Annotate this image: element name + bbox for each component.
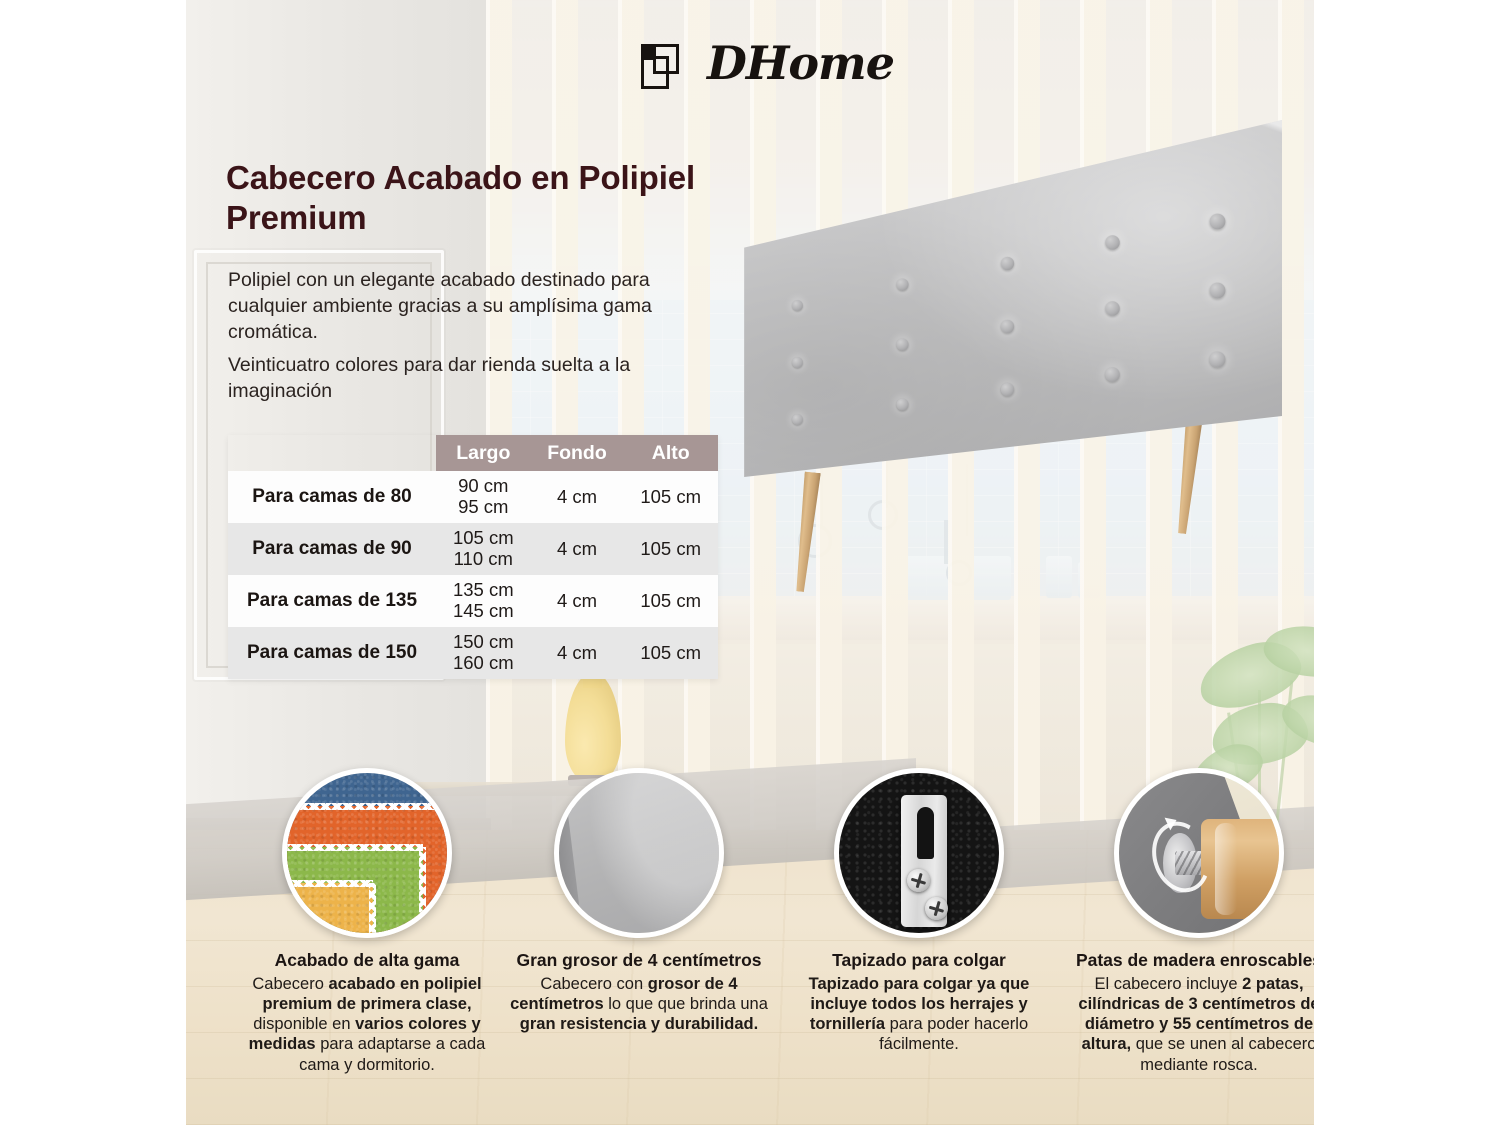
column-header-alto: Alto bbox=[623, 435, 718, 471]
table-body: Para camas de 8090 cm 95 cm4 cm105 cmPar… bbox=[228, 471, 718, 679]
feature-body: Tapizado para colgar ya que incluye todo… bbox=[778, 974, 1060, 1055]
feature-list: Acabado de alta gama Cabecero acabado en… bbox=[186, 768, 1314, 1125]
cell-alto: 105 cm bbox=[623, 575, 718, 627]
tufting-button bbox=[897, 398, 909, 410]
table-row: Para camas de 150150 cm 160 cm4 cm105 cm bbox=[228, 627, 718, 679]
brand-name: DHome bbox=[707, 36, 894, 90]
description-paragraph-1: Polipiel con un elegante acabado destina… bbox=[228, 268, 690, 346]
pinked-edge bbox=[369, 883, 376, 938]
table-row: Para camas de 90105 cm 110 cm4 cm105 cm bbox=[228, 523, 718, 575]
feature-item-thickness: Gran grosor de 4 centímetros Cabecero co… bbox=[498, 768, 780, 1034]
feature-body: Cabecero acabado en polipiel premium de … bbox=[226, 974, 508, 1075]
cell-fondo: 4 cm bbox=[531, 471, 624, 523]
keyhole-slot bbox=[917, 807, 934, 859]
wooden-leg bbox=[1201, 819, 1284, 919]
cell-largo: 90 cm 95 cm bbox=[436, 471, 531, 523]
column-header-largo: Largo bbox=[436, 435, 531, 471]
table-header: Largo Fondo Alto bbox=[228, 435, 718, 471]
cell-fondo: 4 cm bbox=[531, 627, 624, 679]
upholstery-thickness-icon bbox=[554, 768, 724, 938]
cell-largo: 150 cm 160 cm bbox=[436, 627, 531, 679]
pinked-edge bbox=[282, 844, 423, 851]
feature-item-legs: Patas de madera enroscables El cabecero … bbox=[1058, 768, 1314, 1075]
cell-bed-size: Para camas de 90 bbox=[228, 523, 436, 575]
cell-alto: 105 cm bbox=[623, 523, 718, 575]
cell-alto: 105 cm bbox=[623, 471, 718, 523]
feature-body: Cabecero con grosor de 4 centímetros lo … bbox=[498, 974, 780, 1034]
phillips-screw-icon bbox=[925, 897, 948, 920]
cell-largo: 105 cm 110 cm bbox=[436, 523, 531, 575]
feature-body: El cabecero incluye 2 patas, cilíndricas… bbox=[1058, 974, 1314, 1075]
logo-square-lower bbox=[641, 56, 669, 89]
cell-bed-size: Para camas de 135 bbox=[228, 575, 436, 627]
wooden-leg-highlight bbox=[1215, 823, 1237, 915]
product-image-headboard bbox=[742, 120, 1302, 590]
pinked-edge bbox=[282, 880, 373, 887]
cell-alto: 105 cm bbox=[623, 627, 718, 679]
wall-mount-bracket-icon bbox=[834, 768, 1004, 938]
feature-item-mounting: Tapizado para colgar Tapizado para colga… bbox=[778, 768, 1060, 1055]
column-header-fondo: Fondo bbox=[531, 435, 624, 471]
infographic-page: DHome Cabecero Acabado en Polipiel Premi… bbox=[0, 0, 1500, 1125]
phillips-screw-icon bbox=[907, 869, 930, 892]
table-row: Para camas de 8090 cm 95 cm4 cm105 cm bbox=[228, 471, 718, 523]
fabric-swatches-icon bbox=[282, 768, 452, 938]
column-header-blank bbox=[228, 435, 436, 471]
feature-item-finish: Acabado de alta gama Cabecero acabado en… bbox=[226, 768, 508, 1075]
specifications-table: Largo Fondo Alto Para camas de 8090 cm 9… bbox=[228, 435, 718, 679]
tufting-button bbox=[792, 414, 803, 425]
screw-in-wooden-leg-icon bbox=[1114, 768, 1284, 938]
feature-title: Tapizado para colgar bbox=[778, 950, 1060, 971]
cell-bed-size: Para camas de 80 bbox=[228, 471, 436, 523]
table-row: Para camas de 135135 cm 145 cm4 cm105 cm bbox=[228, 575, 718, 627]
dhome-squares-logo-icon bbox=[641, 44, 697, 94]
upholstery-highlight bbox=[567, 768, 724, 938]
cell-fondo: 4 cm bbox=[531, 575, 624, 627]
cell-largo: 135 cm 145 cm bbox=[436, 575, 531, 627]
feature-title: Patas de madera enroscables bbox=[1058, 950, 1314, 971]
swatch-yellow bbox=[282, 883, 373, 938]
wooden-leg-right bbox=[1174, 413, 1203, 534]
pinked-edge bbox=[419, 847, 426, 938]
feature-title: Gran grosor de 4 centímetros bbox=[498, 950, 780, 971]
page-title: Cabecero Acabado en Polipiel Premium bbox=[226, 158, 696, 239]
brand-logo: DHome bbox=[641, 36, 901, 100]
fabric-grain bbox=[282, 883, 373, 938]
description-paragraph-2: Veinticuatro colores para dar rienda sue… bbox=[228, 353, 690, 405]
pinked-edge bbox=[282, 803, 452, 810]
table-header-row: Largo Fondo Alto bbox=[228, 435, 718, 471]
cell-bed-size: Para camas de 150 bbox=[228, 627, 436, 679]
wooden-leg-left bbox=[792, 471, 821, 592]
content-canvas: DHome Cabecero Acabado en Polipiel Premi… bbox=[186, 0, 1314, 1125]
feature-title: Acabado de alta gama bbox=[226, 950, 508, 971]
cell-fondo: 4 cm bbox=[531, 523, 624, 575]
